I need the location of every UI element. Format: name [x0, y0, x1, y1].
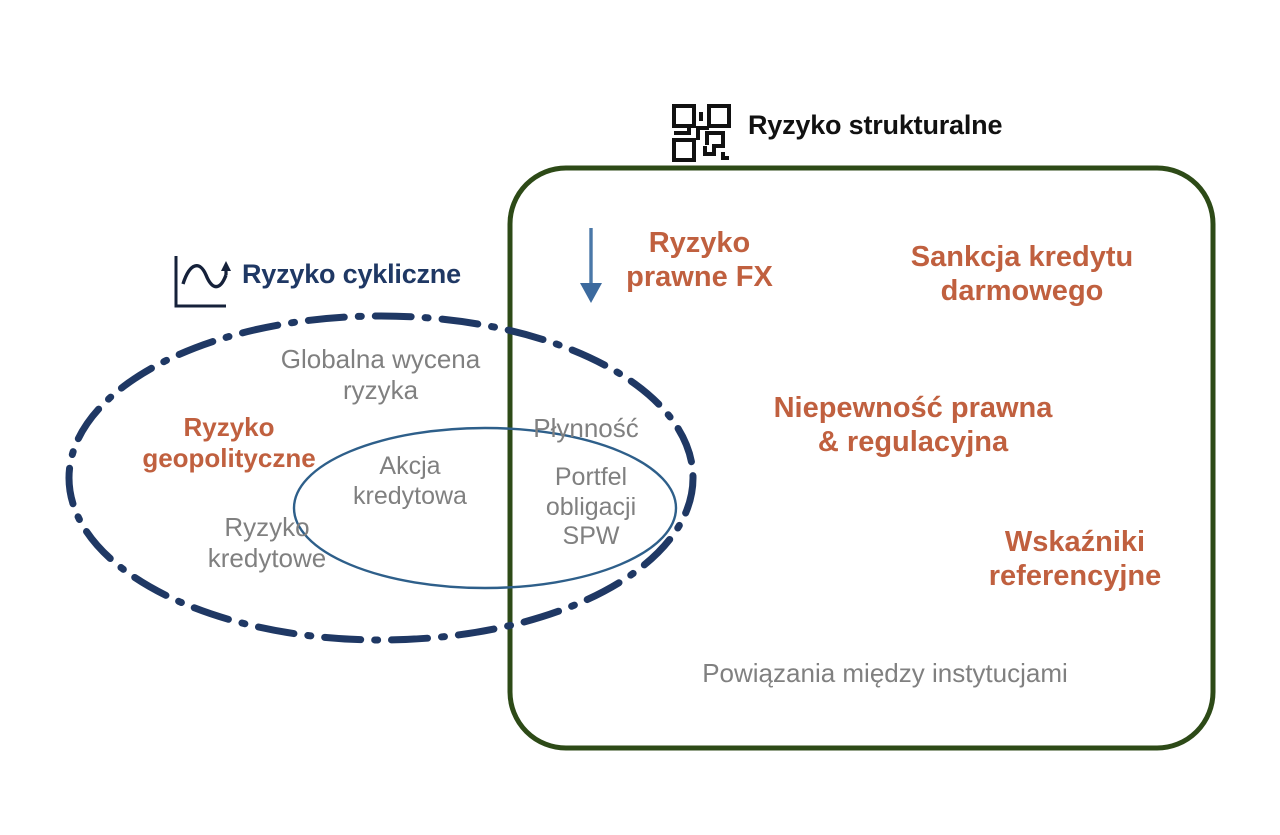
arrow-down-icon — [580, 228, 602, 303]
item-wskazniki-referencyjne: Wskaźniki referencyjne — [955, 525, 1195, 593]
item-portfel-obligacji-spw: Portfel obligacji SPW — [521, 463, 661, 552]
line-chart-up-arrow-icon — [176, 256, 231, 306]
structural-risk-title: Ryzyko strukturalne — [748, 110, 1002, 142]
item-globalna-wycena-ryzyka: Globalna wycena ryzyka — [248, 344, 513, 405]
item-powiazania-miedzy-instytucjami: Powiązania między instytucjami — [655, 658, 1115, 689]
item-plynnosc: Płynność — [512, 413, 660, 444]
diagram-canvas: Ryzyko strukturalne Ryzyko cykliczne Ryz… — [0, 0, 1280, 835]
item-ryzyko-kredytowe: Ryzyko kredytowe — [182, 512, 352, 573]
item-akcja-kredytowa: Akcja kredytowa — [325, 452, 495, 511]
item-ryzyko-geopolityczne: Ryzyko geopolityczne — [113, 412, 345, 473]
item-niepewnosc-prawna-regulacyjna: Niepewność prawna & regulacyjna — [738, 391, 1088, 459]
qr-code-icon — [674, 106, 729, 160]
item-ryzyko-prawne-fx: Ryzyko prawne FX — [612, 226, 787, 294]
cyclical-risk-title: Ryzyko cykliczne — [242, 259, 461, 291]
item-sankcja-kredytu-darmowego: Sankcja kredytu darmowego — [872, 240, 1172, 308]
